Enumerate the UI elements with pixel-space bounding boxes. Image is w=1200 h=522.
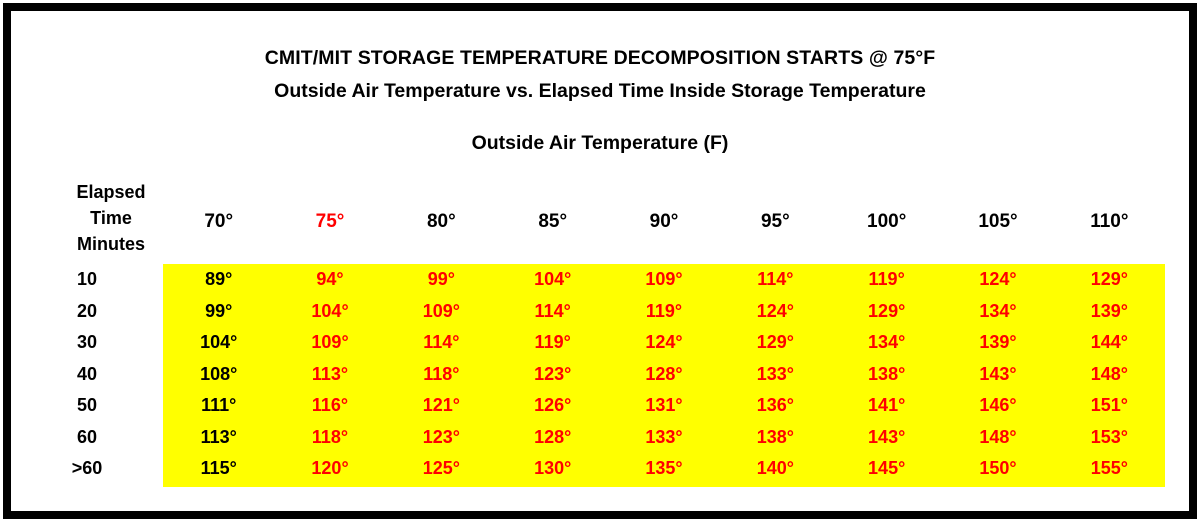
- cell-rgt60-c100: 145°: [831, 453, 942, 485]
- page-frame: CMIT/MIT STORAGE TEMPERATURE DECOMPOSITI…: [0, 0, 1200, 522]
- temperature-table: 70°75°80°85°90°95°100°105°110° 1089°94°9…: [11, 201, 1165, 485]
- cell-r40-c110: 148°: [1054, 359, 1165, 391]
- cell-r60-c85: 128°: [497, 422, 608, 454]
- cell-rgt60-c90: 135°: [608, 453, 719, 485]
- table-row: 30104°109°114°119°124°129°134°139°144°: [11, 327, 1165, 359]
- cell-r30-c70: 104°: [163, 327, 274, 359]
- cell-r60-c80: 123°: [386, 422, 497, 454]
- cell-r60-c75: 118°: [274, 422, 385, 454]
- cell-r50-c110: 151°: [1054, 390, 1165, 422]
- table-row: >60115°120°125°130°135°140°145°150°155°: [11, 453, 1165, 485]
- temperature-grid: 70°75°80°85°90°95°100°105°110° 1089°94°9…: [11, 11, 1189, 511]
- cell-r30-c110: 144°: [1054, 327, 1165, 359]
- cell-r30-c75: 109°: [274, 327, 385, 359]
- cell-r20-c75: 104°: [274, 296, 385, 328]
- cell-r10-c105: 124°: [942, 264, 1053, 296]
- cell-r50-c80: 121°: [386, 390, 497, 422]
- cell-r60-c90: 133°: [608, 422, 719, 454]
- table-body: 1089°94°99°104°109°114°119°124°129°2099°…: [11, 243, 1165, 485]
- table-row: 50111°116°121°126°131°136°141°146°151°: [11, 390, 1165, 422]
- cell-r60-c95: 138°: [720, 422, 831, 454]
- cell-r20-c85: 114°: [497, 296, 608, 328]
- cell-r50-c90: 131°: [608, 390, 719, 422]
- table-row: 1089°94°99°104°109°114°119°124°129°: [11, 264, 1165, 296]
- cell-r10-c110: 129°: [1054, 264, 1165, 296]
- cell-r50-c95: 136°: [720, 390, 831, 422]
- cell-r60-c110: 153°: [1054, 422, 1165, 454]
- cell-r30-c105: 139°: [942, 327, 1053, 359]
- cell-r10-c100: 119°: [831, 264, 942, 296]
- cell-r40-c105: 143°: [942, 359, 1053, 391]
- header-spacer-cell: [11, 243, 1165, 264]
- column-header-85: 85°: [497, 201, 608, 243]
- outer-black-border: CMIT/MIT STORAGE TEMPERATURE DECOMPOSITI…: [3, 3, 1197, 519]
- cell-r50-c105: 146°: [942, 390, 1053, 422]
- cell-r10-c95: 114°: [720, 264, 831, 296]
- column-header-110: 110°: [1054, 201, 1165, 243]
- cell-r10-c90: 109°: [608, 264, 719, 296]
- cell-r50-c100: 141°: [831, 390, 942, 422]
- table-head: 70°75°80°85°90°95°100°105°110°: [11, 201, 1165, 243]
- cell-r20-c110: 139°: [1054, 296, 1165, 328]
- row-header-50: 50: [11, 390, 163, 422]
- row-header-60: 60: [11, 422, 163, 454]
- column-header-100: 100°: [831, 201, 942, 243]
- row-header-20: 20: [11, 296, 163, 328]
- cell-r10-c70: 89°: [163, 264, 274, 296]
- column-header-90: 90°: [608, 201, 719, 243]
- cell-rgt60-c110: 155°: [1054, 453, 1165, 485]
- cell-r60-c100: 143°: [831, 422, 942, 454]
- table-row: 40108°113°118°123°128°133°138°143°148°: [11, 359, 1165, 391]
- column-header-75: 75°: [274, 201, 385, 243]
- cell-r60-c70: 113°: [163, 422, 274, 454]
- cell-r50-c70: 111°: [163, 390, 274, 422]
- cell-r20-c95: 124°: [720, 296, 831, 328]
- cell-r40-c95: 133°: [720, 359, 831, 391]
- cell-r40-c85: 123°: [497, 359, 608, 391]
- cell-r30-c80: 114°: [386, 327, 497, 359]
- cell-r30-c100: 134°: [831, 327, 942, 359]
- cell-r40-c80: 118°: [386, 359, 497, 391]
- cell-r40-c75: 113°: [274, 359, 385, 391]
- cell-r60-c105: 148°: [942, 422, 1053, 454]
- row-header-30: 30: [11, 327, 163, 359]
- table-corner-cell: [11, 201, 163, 243]
- table-canvas: CMIT/MIT STORAGE TEMPERATURE DECOMPOSITI…: [11, 11, 1189, 511]
- cell-r30-c90: 124°: [608, 327, 719, 359]
- table-row: 60113°118°123°128°133°138°143°148°153°: [11, 422, 1165, 454]
- header-spacer-row: [11, 243, 1165, 264]
- row-header-gt60: >60: [11, 453, 163, 485]
- cell-rgt60-c70: 115°: [163, 453, 274, 485]
- cell-r10-c85: 104°: [497, 264, 608, 296]
- row-header-10: 10: [11, 264, 163, 296]
- cell-rgt60-c80: 125°: [386, 453, 497, 485]
- column-header-row: 70°75°80°85°90°95°100°105°110°: [11, 201, 1165, 243]
- cell-r20-c105: 134°: [942, 296, 1053, 328]
- cell-r30-c85: 119°: [497, 327, 608, 359]
- cell-r20-c90: 119°: [608, 296, 719, 328]
- column-header-80: 80°: [386, 201, 497, 243]
- cell-r20-c80: 109°: [386, 296, 497, 328]
- cell-r10-c80: 99°: [386, 264, 497, 296]
- cell-r50-c85: 126°: [497, 390, 608, 422]
- cell-r20-c70: 99°: [163, 296, 274, 328]
- column-header-70: 70°: [163, 201, 274, 243]
- cell-r40-c70: 108°: [163, 359, 274, 391]
- cell-rgt60-c75: 120°: [274, 453, 385, 485]
- cell-r20-c100: 129°: [831, 296, 942, 328]
- cell-rgt60-c85: 130°: [497, 453, 608, 485]
- cell-r50-c75: 116°: [274, 390, 385, 422]
- table-row: 2099°104°109°114°119°124°129°134°139°: [11, 296, 1165, 328]
- cell-r10-c75: 94°: [274, 264, 385, 296]
- cell-r30-c95: 129°: [720, 327, 831, 359]
- cell-r40-c100: 138°: [831, 359, 942, 391]
- cell-r40-c90: 128°: [608, 359, 719, 391]
- cell-rgt60-c95: 140°: [720, 453, 831, 485]
- column-header-105: 105°: [942, 201, 1053, 243]
- row-header-40: 40: [11, 359, 163, 391]
- column-header-95: 95°: [720, 201, 831, 243]
- cell-rgt60-c105: 150°: [942, 453, 1053, 485]
